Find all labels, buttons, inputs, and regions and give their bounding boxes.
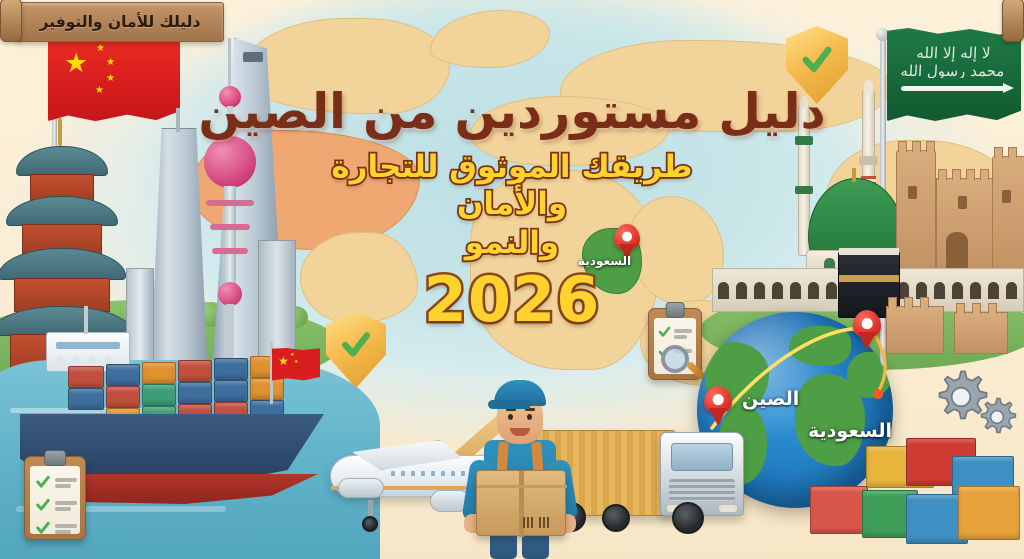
import-guide-banner: السعودية ★ ★ ★ ★ ★	[0, 0, 1024, 559]
check-icon	[799, 45, 835, 75]
check-icon	[35, 498, 51, 512]
map-pin-icon-destination	[853, 310, 881, 350]
check-icon	[35, 521, 51, 535]
deck-container	[106, 386, 140, 408]
globe-label-saudi: السعودية	[808, 420, 892, 442]
map-label-saudi: السعودية	[578, 254, 631, 268]
map-pin-icon-china	[704, 386, 732, 426]
deck-container	[68, 388, 104, 410]
check-icon	[339, 331, 374, 360]
deck-container	[178, 360, 212, 382]
package-label	[539, 517, 549, 528]
deck-container	[142, 384, 176, 406]
truck-grille	[669, 479, 735, 501]
deck-container	[250, 378, 284, 400]
deck-container	[106, 364, 140, 386]
magnifier-icon	[661, 345, 689, 373]
fortress-wall	[954, 312, 1008, 354]
check-icon	[35, 475, 51, 489]
scroll-banner: دليلك للأمان والتوفير	[0, 0, 240, 44]
scroll-roll-right	[1002, 0, 1024, 42]
scroll-banner-text: دليلك للأمان والتوفير	[16, 0, 224, 44]
saudi-flag-sword	[901, 86, 1005, 91]
deck-container	[178, 382, 212, 404]
check-icon	[658, 326, 671, 338]
deck-container	[214, 358, 248, 380]
jin-mao-spire	[176, 108, 180, 132]
truck-windshield	[671, 443, 733, 471]
clipboard-check-icon	[24, 456, 86, 540]
shield-check-icon-center	[326, 312, 386, 388]
globe-label-china: الصين	[742, 388, 799, 410]
deck-container	[68, 366, 104, 388]
clipboard-clip	[666, 302, 685, 318]
deck-container	[142, 362, 176, 384]
saudi-flag-shahada: لا إله إلا الله محمد رسول الله	[896, 44, 1010, 78]
clipboard-clip	[44, 450, 66, 466]
shanghai-tower-window	[243, 52, 263, 62]
package-box	[476, 470, 566, 536]
saudi-flag: لا إله إلا الله محمد رسول الله	[887, 28, 1021, 122]
plane-engine	[338, 478, 384, 498]
gear-icon-small	[976, 396, 1018, 438]
deck-container	[214, 380, 248, 402]
ship-china-flag: ★ ★ ★	[272, 348, 320, 381]
package-label	[523, 517, 533, 528]
shield-check-icon-top	[786, 26, 848, 104]
